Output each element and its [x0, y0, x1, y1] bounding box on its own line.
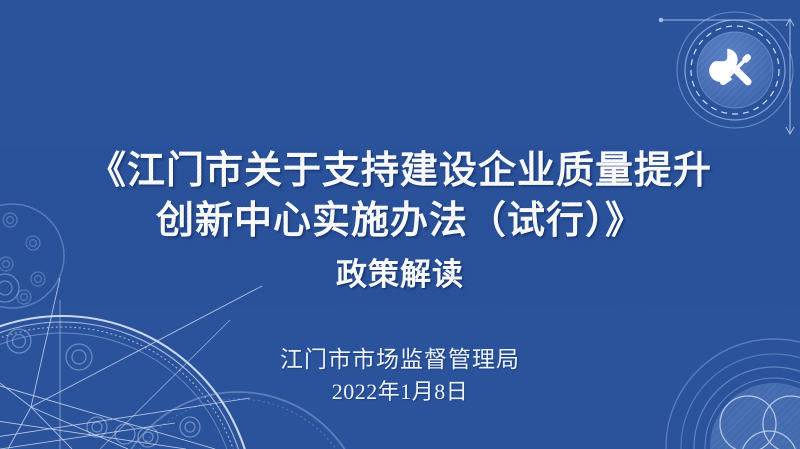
footer-date: 2022年1月8日: [0, 376, 800, 408]
slide-footer: 江门市市场监督管理局 2022年1月8日: [0, 344, 800, 408]
title-line-1: 《江门市关于支持建设企业质量提升: [0, 146, 800, 196]
title-subtitle: 政策解读: [0, 252, 800, 298]
title-line-2: 创新中心实施办法（试行）》: [0, 196, 800, 246]
slide-title: 《江门市关于支持建设企业质量提升 创新中心实施办法（试行）》 政策解读: [0, 146, 800, 298]
footer-organization: 江门市市场监督管理局: [0, 344, 800, 376]
presentation-slide: 《江门市关于支持建设企业质量提升 创新中心实施办法（试行）》 政策解读 江门市市…: [0, 0, 800, 449]
tools-icon-glyph: [705, 46, 759, 100]
